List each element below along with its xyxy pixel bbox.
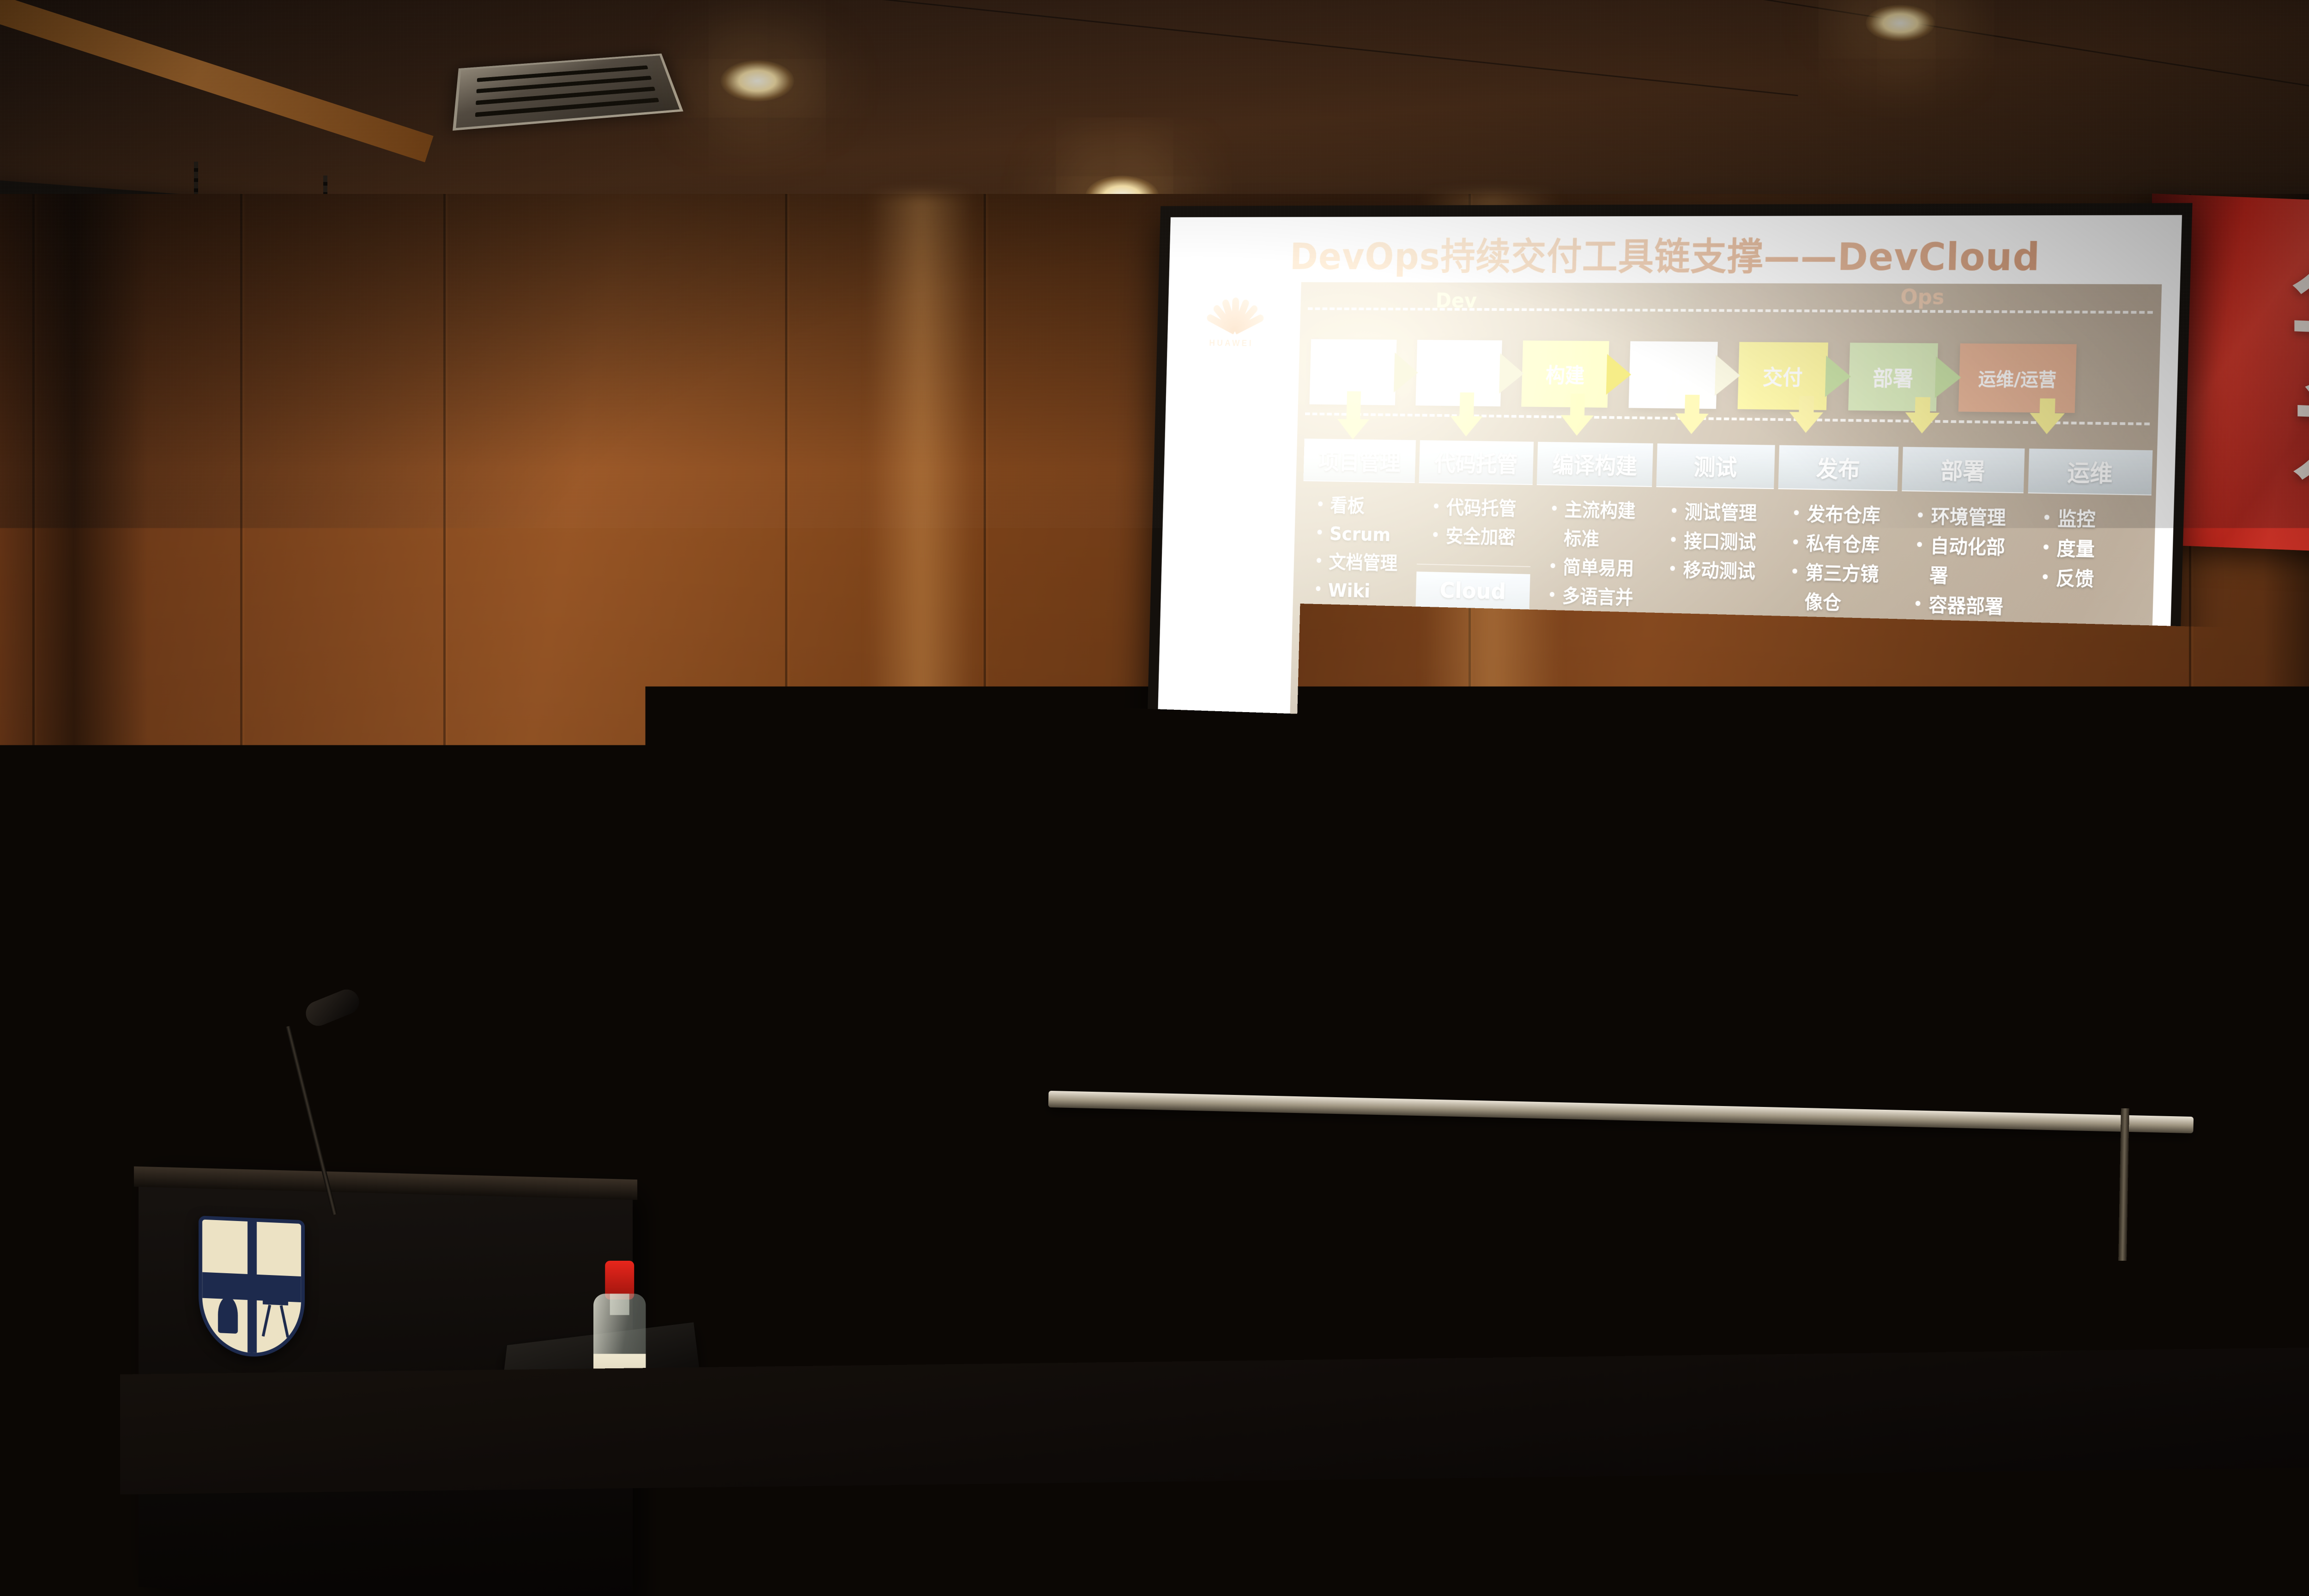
slide-title: DevOps持续交付工具链支撑——DevCloud	[1289, 226, 2126, 282]
flow-box: 运维/运营	[1958, 344, 2077, 413]
ceiling	[0, 0, 2309, 217]
tsp-line3: PARK	[496, 898, 548, 917]
card-bullets: 主流构建标准 简单易用 多语言并行	[1533, 485, 1652, 646]
card: 运维 监控 度量 反馈	[2025, 448, 2153, 600]
glasses-icon	[665, 1009, 748, 1034]
card-bullets: WebIDE	[1414, 634, 1529, 680]
speaker-hand	[725, 1178, 785, 1238]
flow-box	[1415, 340, 1502, 406]
card-bullets: 看板 Scrum 文档管理 Wiki	[1300, 481, 1415, 611]
flow-arrow-icon	[1935, 357, 1962, 399]
card: 代码托管 代码托管 安全加密	[1417, 440, 1534, 556]
tianfu-software-park-logo: TIANFU SOFTWARE PARK 天府软件园	[496, 863, 604, 924]
card: Cloud IDE WebIDE	[1414, 572, 1530, 680]
list-item: Scrum	[1315, 519, 1409, 550]
list-item: 架构看护	[1424, 804, 1520, 836]
huawei-wordmark: HUAWEI	[1195, 339, 1268, 349]
shield-icon	[453, 1093, 477, 1120]
card-bullets: 自定制 可视化 并行/串行	[1528, 704, 1646, 809]
list-item: 多语言并行	[1547, 581, 1645, 641]
list-item: 自动化部署	[1914, 531, 2018, 592]
red-banner-char-2: 为	[2291, 384, 2309, 489]
list-item: 环境管理	[1916, 502, 2019, 533]
card: 流水线 自定制 可视化 并行/串行	[1528, 660, 1647, 809]
lane-label-dev: Dev	[1435, 289, 1477, 313]
list-item: 自定制	[1544, 714, 1642, 746]
card: 项目管理 看板 Scrum 文档管理 Wiki	[1300, 439, 1416, 611]
flow-box: 测试	[1629, 341, 1718, 409]
list-item: 精准定位	[1426, 747, 1522, 779]
card-title: 代码托管	[1419, 440, 1534, 485]
ceiling-beam	[0, 0, 434, 163]
flow-arrow-icon	[1825, 356, 1851, 397]
card-title: 代码检查	[1412, 694, 1527, 740]
projection-screen: DevOps持续交付工具链支撑——DevCloud HUAWEI Dev Ops	[1139, 203, 2193, 1122]
list-item: Wiki	[1314, 576, 1408, 606]
ceiling-seam	[695, 0, 1798, 96]
huawei-flower-logo-icon: HUAWEI	[1196, 282, 1269, 334]
column-operations: 运维 监控 度量 反馈	[2013, 448, 2153, 1046]
tsp-line2: SOFTWARE	[496, 880, 604, 900]
flow-arrow-icon	[1394, 352, 1419, 393]
card-title: Cloud IDE	[1415, 572, 1530, 637]
list-item: 第三方镜像仓	[1789, 558, 1891, 619]
list-item: 私有仓库	[1791, 529, 1892, 560]
huawei-mini-wordmark: HUAWEI	[629, 903, 672, 911]
slide-url: www.huaweicloud.com	[1929, 1060, 2104, 1088]
list-item: WebIDE	[1428, 644, 1524, 675]
down-arrow-icon	[1570, 393, 1585, 418]
card: 测试 测试管理 接口测试 移动测试	[1654, 443, 1775, 591]
card-bullets: 测试管理 接口测试 移动测试	[1654, 487, 1774, 591]
card-title: 部署	[1902, 447, 2025, 494]
card-bullets: 监控 度量 反馈	[2025, 493, 2152, 600]
card-title: 运维	[2028, 448, 2152, 496]
pipeline-flow-row: 构建 测试 交付 部署 运维/运营	[1309, 328, 2152, 425]
card-bullets: 发布仓库 私有仓库 第三方镜像仓	[1775, 489, 1898, 623]
down-arrow-icon	[1799, 396, 1814, 415]
card-title: 编译构建	[1537, 442, 1653, 487]
list-item: 简单易用	[1548, 553, 1646, 584]
card-title: 测试	[1656, 443, 1775, 489]
down-arrow-icon	[1346, 391, 1361, 422]
ceiling-downlight	[720, 60, 794, 102]
column-code-hosting: 代码托管 代码托管 安全加密 Cloud IDE WebIDE	[1405, 440, 1534, 1012]
app-icon-project-management: 项目管理	[437, 1084, 492, 1144]
hvac-vent-icon	[453, 54, 683, 131]
card: 部署 环境管理 自动化部署 容器部署	[1898, 447, 2025, 627]
down-arrow-icon	[1915, 397, 1931, 416]
dev-lane-divider	[1308, 308, 2153, 314]
list-item: 容器部署	[1913, 590, 2016, 623]
tsp-line1: TIANFU	[496, 863, 568, 883]
card-bullets: 精准定位 修复建议 架构看护	[1410, 737, 1526, 841]
presentation-slide: DevOps持续交付工具链支撑——DevCloud HUAWEI Dev Ops	[1149, 215, 2182, 1107]
list-item: 修复建议	[1425, 775, 1521, 808]
list-item: 并行/串行	[1542, 772, 1640, 804]
column-release: 发布 发布仓库 私有仓库 第三方镜像仓	[1764, 445, 1898, 1032]
lane-label-ops: Ops	[1900, 284, 1945, 309]
card: 发布 发布仓库 私有仓库 第三方镜像仓	[1775, 445, 1899, 623]
devops-toolchain-diagram: Dev Ops 构建 测试 交付 部署 运维/运营	[1282, 282, 2162, 1051]
list-item: 文档管理	[1315, 548, 1409, 578]
list-item: 代码托管	[1432, 493, 1528, 523]
capability-columns: 项目管理 看板 Scrum 文档管理 Wiki 代码托管	[1290, 439, 2152, 1046]
column-project-management: 项目管理 看板 Scrum 文档管理 Wiki	[1290, 439, 1416, 1006]
list-item: 主流构建标准	[1549, 495, 1648, 555]
list-item: 可视化	[1543, 743, 1641, 775]
flow-box: 构建	[1521, 340, 1609, 407]
rollup-logo-row: TIANFU SOFTWARE PARK 天府软件园 HUAWEI	[496, 863, 672, 924]
list-item: 监控	[2042, 504, 2147, 536]
down-arrow-icon	[1685, 395, 1700, 417]
card: 编译构建 主流构建标准 简单易用 多语言并行	[1533, 442, 1653, 646]
app-icon-label: 项目管理	[450, 1124, 479, 1135]
red-banner-char-1: 华	[2291, 259, 2309, 364]
auditorium-scene: 华 为 DevOps持续交付工具链支撑——DevCloud HUAWEI Dev	[0, 0, 2309, 1596]
slide-footer: 华为云 | 有技术 有未来 值得信赖	[1185, 1013, 1438, 1052]
list-item: 反馈	[2040, 563, 2145, 596]
flow-arrow-icon	[1715, 355, 1741, 396]
flow-box: 交付	[1738, 342, 1828, 410]
card-title: 发布	[1778, 445, 1898, 491]
card-title: 项目管理	[1303, 439, 1416, 483]
card: 代码检查 精准定位 修复建议 架构看护	[1410, 694, 1527, 840]
list-item: 度量	[2041, 533, 2146, 565]
list-item: 接口测试	[1669, 526, 1768, 557]
list-item: 安全加密	[1431, 521, 1527, 552]
huawei-logo-icon: HUAWEI	[629, 874, 672, 911]
column-test: 测试 测试管理 接口测试 移动测试	[1642, 443, 1775, 1026]
card-bullets: 代码托管 安全加密	[1417, 483, 1533, 556]
list-item: 看板	[1316, 491, 1410, 521]
list-item: 发布仓库	[1792, 499, 1893, 531]
down-arrow-icon	[2040, 399, 2055, 416]
list-item: 测试管理	[1670, 497, 1769, 528]
down-arrow-icon	[1459, 393, 1474, 419]
flow-arrow-icon	[1499, 353, 1524, 394]
ceiling-downlight	[1866, 5, 1935, 42]
column-build: 编译构建 主流构建标准 简单易用 多语言并行 流水线 自定制	[1523, 442, 1653, 1019]
stage-front	[0, 1397, 2309, 1596]
column-deploy: 部署 环境管理 自动化部署 容器部署	[1887, 447, 2025, 1040]
card-bullets: 环境管理 自动化部署 容器部署	[1898, 491, 2024, 627]
list-item: 移动测试	[1668, 555, 1767, 586]
flow-arrow-icon	[1606, 354, 1632, 395]
university-crest-icon	[199, 1215, 305, 1359]
card-title: 流水线	[1531, 660, 1647, 707]
